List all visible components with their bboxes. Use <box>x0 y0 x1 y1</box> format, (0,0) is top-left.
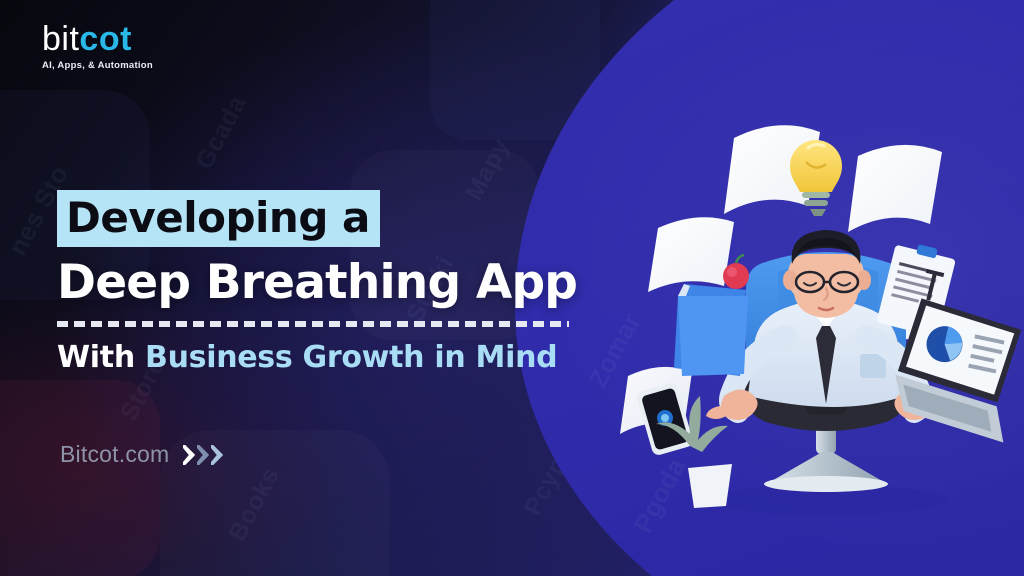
chevron-right-icon <box>197 445 210 465</box>
floating-paper <box>848 145 942 232</box>
bitcot-logo[interactable]: bitcot AI, Apps, & Automation <box>42 22 153 71</box>
logo-bit-text: bit <box>42 20 79 58</box>
meditating-man-illustration <box>620 96 1024 526</box>
headline-line2: Deep Breathing App <box>57 257 617 309</box>
watermark-text: Gcada <box>190 91 253 174</box>
headline-line1: Developing a <box>57 190 380 247</box>
promo-banner: nes Sto Gcada Mapy Statki Store Books Pc… <box>0 0 1024 576</box>
open-book-icon <box>674 284 748 376</box>
chevron-group <box>183 445 224 465</box>
headline-line1-wrapper: Developing a <box>57 190 380 247</box>
headline-block: Developing a Deep Breathing App With Bus… <box>57 190 617 375</box>
logo-cot-text: cot <box>79 20 132 58</box>
hero-illustration <box>620 96 1024 526</box>
lightbulb-icon <box>790 140 842 216</box>
chevron-right-icon <box>211 445 224 465</box>
floating-paper <box>648 217 734 292</box>
headline-line3: With Business Growth in Mind <box>57 340 617 375</box>
footer-link[interactable]: Bitcot.com <box>60 441 224 468</box>
footer-url-text: Bitcot.com <box>60 441 169 468</box>
headline-line3-accent: Business Growth in Mind <box>145 340 557 375</box>
dashed-divider <box>57 321 569 327</box>
headline-line3-prefix: With <box>57 340 145 375</box>
hand-left <box>706 389 758 420</box>
chevron-right-icon <box>183 445 196 465</box>
logo-tagline: AI, Apps, & Automation <box>42 60 153 71</box>
logo-wordmark: bitcot <box>42 22 153 56</box>
